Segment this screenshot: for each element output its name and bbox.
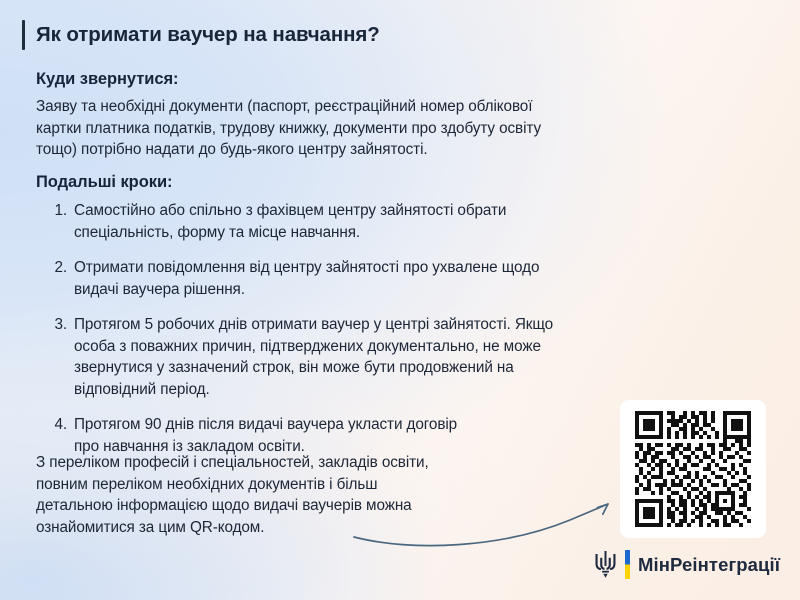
slide-canvas: Як отримати ваучер на навчання? Куди зве… — [0, 0, 800, 600]
ukraine-flag-bar — [625, 550, 630, 579]
list-item-line: відповідний період. — [74, 379, 553, 401]
page-title: Як отримати ваучер на навчання? — [22, 20, 380, 50]
qr-code-icon[interactable] — [635, 411, 751, 527]
list-item-body: Протягом 90 днів після видачі ваучера ук… — [67, 414, 457, 457]
where-section-heading: Куди звернутися: — [36, 70, 179, 89]
paragraph-line: ознайомитися за цим QR-кодом. — [36, 517, 429, 539]
list-item-body: Протягом 5 робочих днів отримати ваучер … — [67, 314, 553, 400]
paragraph-line: тощо) потрібно надати до будь-якого цент… — [36, 139, 541, 161]
list-item-number: 1. — [45, 200, 67, 222]
list-item-line: Протягом 90 днів після видачі ваучера ук… — [74, 414, 457, 436]
list-item-line: Отримати повідомлення від центру зайнято… — [74, 257, 539, 279]
footer-logo: МінРеінтеграції — [594, 550, 780, 579]
list-item-body: Отримати повідомлення від центру зайнято… — [67, 257, 539, 300]
paragraph-line: Заяву та необхідні документи (паспорт, р… — [36, 96, 541, 118]
list-item: 1. Самостійно або спільно з фахівцем цен… — [45, 200, 755, 243]
paragraph-line: детальною інформацією щодо видачі ваучер… — [36, 495, 429, 517]
list-item: 3. Протягом 5 робочих днів отримати вауч… — [45, 314, 755, 400]
list-item-line: Протягом 5 робочих днів отримати ваучер … — [74, 314, 553, 336]
title-text: Як отримати ваучер на навчання? — [36, 20, 380, 50]
paragraph-line: З переліком професій і спеціальностей, з… — [36, 452, 429, 474]
list-item-body: Самостійно або спільно з фахівцем центру… — [67, 200, 506, 243]
list-item-line: звернутися у зазначений строк, він може … — [74, 357, 553, 379]
list-item-line: особа з поважних причин, підтверджених д… — [74, 336, 553, 358]
qr-instructions-paragraph: З переліком професій і спеціальностей, з… — [36, 452, 429, 538]
where-section-paragraph: Заяву та необхідні документи (паспорт, р… — [36, 96, 541, 161]
ukraine-trident-icon — [594, 550, 617, 579]
brand-name: МінРеінтеграції — [638, 554, 780, 576]
steps-section-heading: Подальші кроки: — [36, 173, 172, 192]
list-item-line: спеціальність, форму та місце навчання. — [74, 222, 506, 244]
qr-code-card[interactable] — [620, 400, 766, 538]
list-item-number: 2. — [45, 257, 67, 279]
list-item-line: Самостійно або спільно з фахівцем центру… — [74, 200, 506, 222]
title-accent-bar — [22, 20, 25, 50]
paragraph-line: повним переліком необхідних документів і… — [36, 474, 429, 496]
list-item-line: видачі ваучера рішення. — [74, 279, 539, 301]
paragraph-line: картки платника податків, трудову книжку… — [36, 118, 541, 140]
list-item-number: 3. — [45, 314, 67, 336]
list-item: 2. Отримати повідомлення від центру зайн… — [45, 257, 755, 300]
list-item-number: 4. — [45, 414, 67, 436]
